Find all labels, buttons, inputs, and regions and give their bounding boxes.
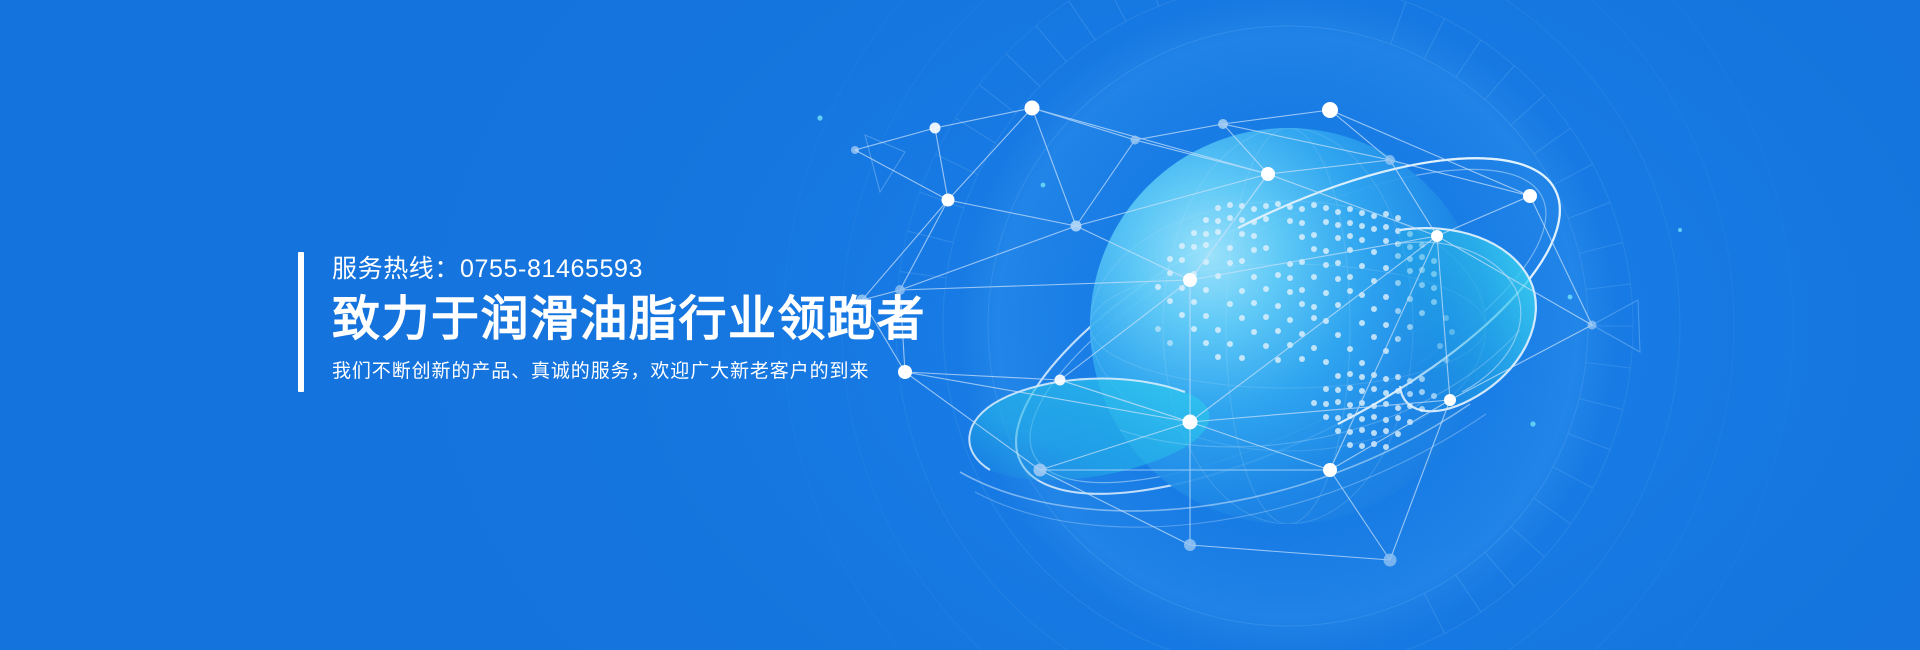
continent-dot-map <box>1155 201 1455 450</box>
orbit-ring-back <box>971 92 1605 560</box>
hero-text-column: 服务热线：0755-81465593 致力于润滑油脂行业领跑者 我们不断创新的产… <box>304 252 926 392</box>
hero-banner: 服务热线：0755-81465593 致力于润滑油脂行业领跑者 我们不断创新的产… <box>0 0 1920 650</box>
hero-text-block: 服务热线：0755-81465593 致力于润滑油脂行业领跑者 我们不断创新的产… <box>298 252 926 392</box>
network-links <box>855 108 1592 560</box>
orbit-sweep-lines <box>960 330 1520 527</box>
orbit-ring-front <box>1238 92 1605 424</box>
network-nodes <box>851 101 1597 567</box>
orbit-lobe-left <box>969 379 1209 481</box>
orbit-lobe-right <box>1394 228 1536 411</box>
wire-triangle-left <box>865 135 905 192</box>
wire-triangle-right <box>1592 300 1640 352</box>
service-hotline: 服务热线：0755-81465593 <box>332 252 926 286</box>
network-globe-illustration <box>0 0 1920 650</box>
hero-subtitle: 我们不断创新的产品、真诚的服务，欢迎广大新老客户的到来 <box>332 358 926 386</box>
hero-headline: 致力于润滑油脂行业领跑者 <box>332 290 926 350</box>
globe <box>1090 128 1486 524</box>
